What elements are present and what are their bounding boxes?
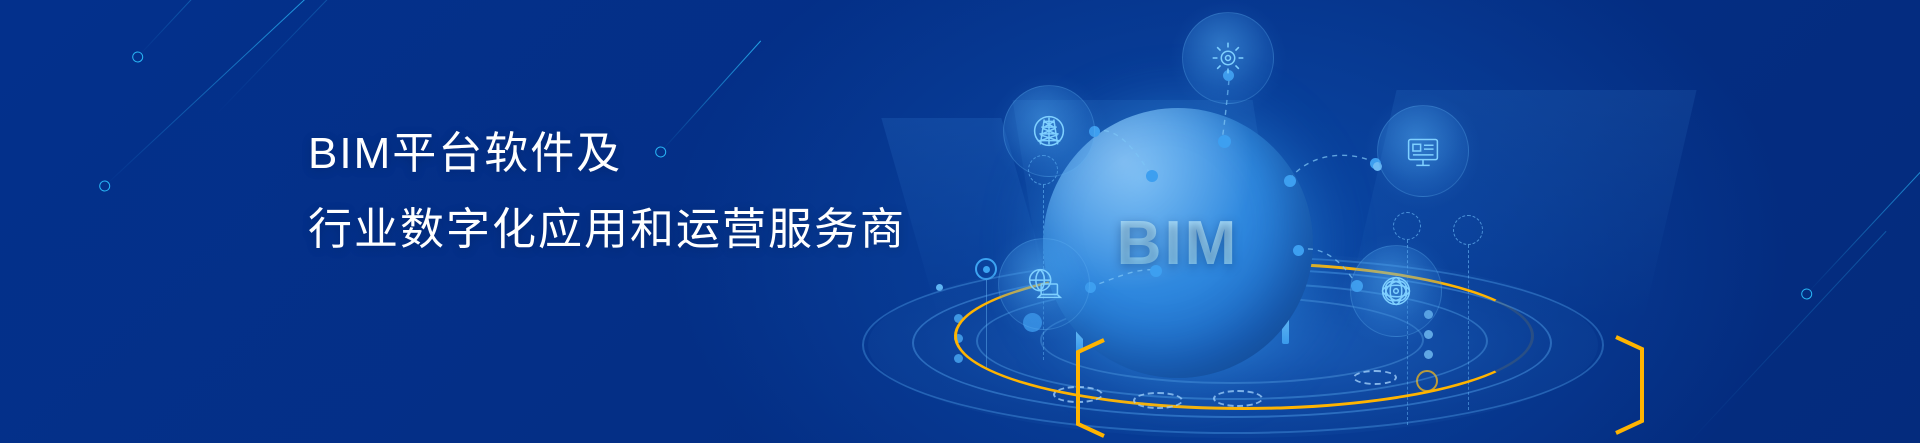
connector-dot (1150, 265, 1162, 277)
gear-icon (1205, 35, 1251, 81)
monitor-report-icon (1400, 128, 1446, 174)
headline-line-2: 行业数字化应用和运营服务商 (308, 192, 906, 268)
satellite-power-tower[interactable] (1003, 85, 1095, 177)
bim-illustration: BIM (850, 0, 1920, 443)
decor-line-stroke (137, 0, 281, 58)
network-sphere-icon (1373, 268, 1419, 314)
connector-dot (1284, 175, 1296, 187)
globe-laptop-icon (1021, 261, 1067, 307)
hero-banner: BIM平台软件及 行业数字化应用和运营服务商 (0, 0, 1920, 443)
satellite-monitor[interactable] (1377, 105, 1469, 197)
bracket-right (1614, 335, 1648, 435)
arc-monitor-to-core (1289, 155, 1376, 180)
connector-dot (1146, 170, 1158, 182)
bracket-left (1072, 338, 1106, 438)
bracket-right-icon (1614, 335, 1648, 435)
satellite-gear[interactable] (1182, 12, 1274, 104)
decor-line-stroke (104, 0, 324, 187)
connector-arcs (850, 0, 1920, 443)
satellite-network[interactable] (1350, 245, 1442, 337)
banner-headline: BIM平台软件及 行业数字化应用和运营服务商 (308, 116, 906, 268)
connector-dot (1218, 135, 1231, 148)
decor-line-2 (104, 0, 324, 187)
satellite-globe-laptop[interactable] (998, 238, 1090, 330)
connector-dot (1293, 245, 1304, 256)
power-tower-icon (1026, 108, 1072, 154)
decor-line-1 (137, 0, 281, 58)
bracket-left-icon (1072, 338, 1106, 438)
headline-line-1: BIM平台软件及 (308, 116, 906, 192)
